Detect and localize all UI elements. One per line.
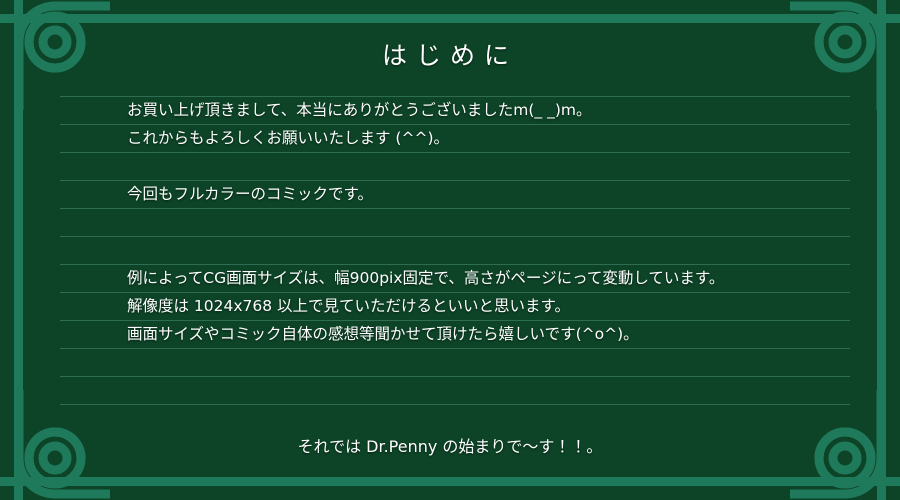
body-line: 今回もフルカラーのコミックです。 bbox=[127, 180, 847, 208]
body-line-blank bbox=[127, 236, 847, 264]
frame-rail-top bbox=[0, 14, 900, 23]
body-line-blank bbox=[127, 152, 847, 180]
frame-rail-bottom bbox=[0, 477, 900, 486]
body-line: 画面サイズやコミック自体の感想等聞かせて頂けたら嬉しいです(^o^)。 bbox=[127, 320, 847, 348]
intro-body-text: お買い上げ頂きまして、本当にありがとうございましたm(_ _)m。これからもよろ… bbox=[127, 96, 847, 348]
page-title: はじめに bbox=[0, 36, 900, 72]
body-line: お買い上げ頂きまして、本当にありがとうございましたm(_ _)m。 bbox=[127, 96, 847, 124]
body-line: これからもよろしくお願いいたします (^^)。 bbox=[127, 124, 847, 152]
comic-intro-page: はじめに お買い上げ頂きまして、本当にありがとうございましたm(_ _)m。これ… bbox=[0, 0, 900, 500]
body-line: 例によってCG画面サイズは、幅900pix固定で、高さがページにって変動していま… bbox=[127, 264, 847, 292]
closing-line: それでは Dr.Penny の始まりで〜す！！。 bbox=[0, 433, 900, 457]
body-line: 解像度は 1024x768 以上で見ていただけるといいと思います。 bbox=[127, 292, 847, 320]
body-line-blank bbox=[127, 208, 847, 236]
